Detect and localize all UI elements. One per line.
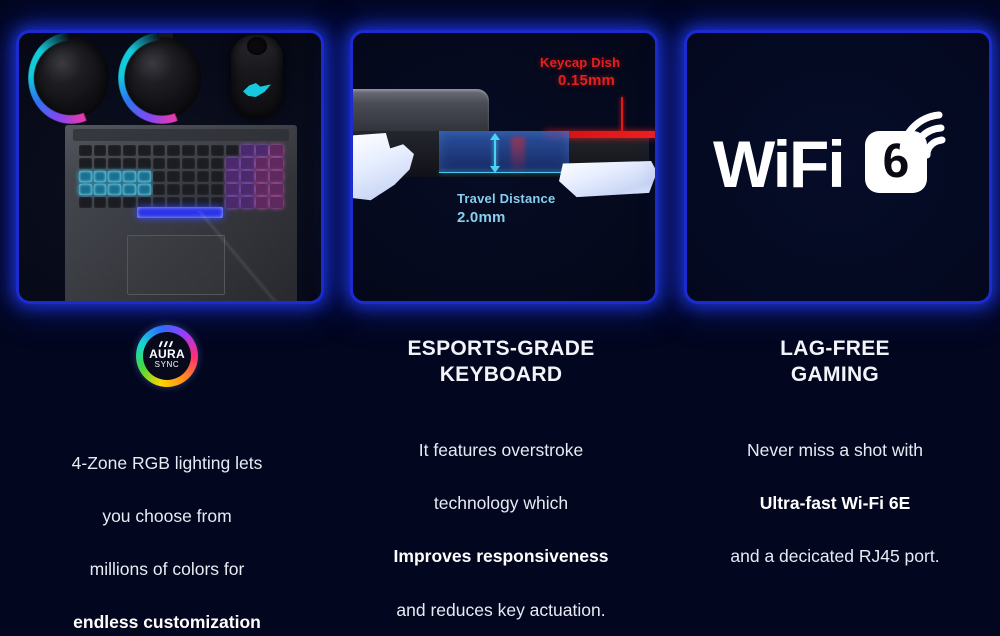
feature-column-keyboard: ESPORTS-GRADE KEYBOARD It features overs… (350, 312, 652, 623)
panel-aura-rgb-laptop (16, 30, 324, 304)
feature-columns: AURA SYNC 4-Zone RGB lighting lets you c… (0, 312, 1000, 572)
rog-logo-icon (243, 83, 271, 97)
body-line-bold: endless customization (73, 612, 261, 632)
keyboard-row (79, 158, 283, 169)
keyboard-row (79, 184, 283, 195)
aura-label: AURA (149, 348, 185, 360)
keycap-dish-leader-line (621, 97, 623, 133)
body-line-bold: Ultra-fast Wi-Fi 6E (760, 493, 911, 513)
feature-body: Never miss a shot with Ultra-fast Wi-Fi … (684, 411, 986, 571)
laptop-product-photo (19, 33, 321, 301)
keyboard-row (79, 145, 283, 156)
travel-distance-label: Travel Distance (457, 191, 555, 206)
wifi6-scene: WiFi 6 (687, 33, 989, 301)
body-line: you choose from (102, 506, 231, 526)
panel-keycap-cross-section: Keycap Dish 0.15mm Travel Distance 2.0mm (350, 30, 658, 304)
feature-body: 4-Zone RGB lighting lets you choose from… (16, 423, 318, 636)
keycap-top-surface (350, 89, 489, 135)
keycap-diagram: Keycap Dish 0.15mm Travel Distance 2.0mm (353, 33, 655, 301)
headphone-rgb-ring-icon (28, 32, 114, 124)
wifi-signal-icon (899, 107, 961, 159)
promo-banner: Keycap Dish 0.15mm Travel Distance 2.0mm… (0, 0, 1000, 600)
feature-column-lag-free: LAG-FREE GAMING Never miss a shot with U… (684, 312, 986, 570)
sync-label: SYNC (155, 360, 180, 370)
rgb-keyboard (79, 145, 283, 219)
body-line: and reduces key actuation. (396, 600, 605, 620)
wifi6-logo: WiFi 6 (713, 119, 963, 215)
feature-heading: LAG-FREE GAMING (684, 336, 986, 389)
feature-column-aura-sync: AURA SYNC 4-Zone RGB lighting lets you c… (16, 312, 318, 636)
headphone-right-cup-icon (123, 37, 201, 119)
wifi6-wordmark: WiFi (713, 131, 844, 197)
body-line: 4-Zone RGB lighting lets (72, 453, 263, 473)
panel-row: Keycap Dish 0.15mm Travel Distance 2.0mm… (0, 30, 1000, 298)
body-line: millions of colors for (90, 559, 245, 579)
aura-sync-badge: AURA SYNC (136, 325, 198, 387)
keyboard-row (79, 171, 283, 182)
gaming-mouse-icon (231, 35, 283, 119)
body-line: Never miss a shot with (747, 440, 923, 460)
feature-heading: ESPORTS-GRADE KEYBOARD (350, 336, 652, 389)
body-line: and a decicated RJ45 port. (730, 546, 939, 566)
body-line: technology which (434, 493, 568, 513)
scissor-mechanism-right (559, 161, 657, 203)
travel-distance-arrow-icon (489, 133, 501, 173)
keycap-dish-label: Keycap Dish (540, 55, 620, 70)
headphone-rgb-ring-icon (118, 32, 206, 124)
feature-body: It features overstroke technology which … (350, 411, 652, 624)
laptop-chassis (65, 125, 297, 301)
headphone-left-cup-icon (33, 37, 109, 119)
travel-distance-band (439, 131, 569, 173)
keycap-red-glow (511, 137, 525, 177)
body-line: It features overstroke (419, 440, 583, 460)
aura-sync-inner: AURA SYNC (143, 332, 191, 380)
travel-distance-value: 2.0mm (457, 209, 506, 226)
body-line-bold: Improves responsiveness (394, 546, 609, 566)
laptop-deck-highlight (177, 211, 297, 301)
laptop-hinge (73, 129, 289, 141)
travel-distance-baseline (439, 172, 567, 173)
keycap-dish-value: 0.15mm (558, 72, 615, 89)
panel-wifi6: WiFi 6 (684, 30, 992, 304)
